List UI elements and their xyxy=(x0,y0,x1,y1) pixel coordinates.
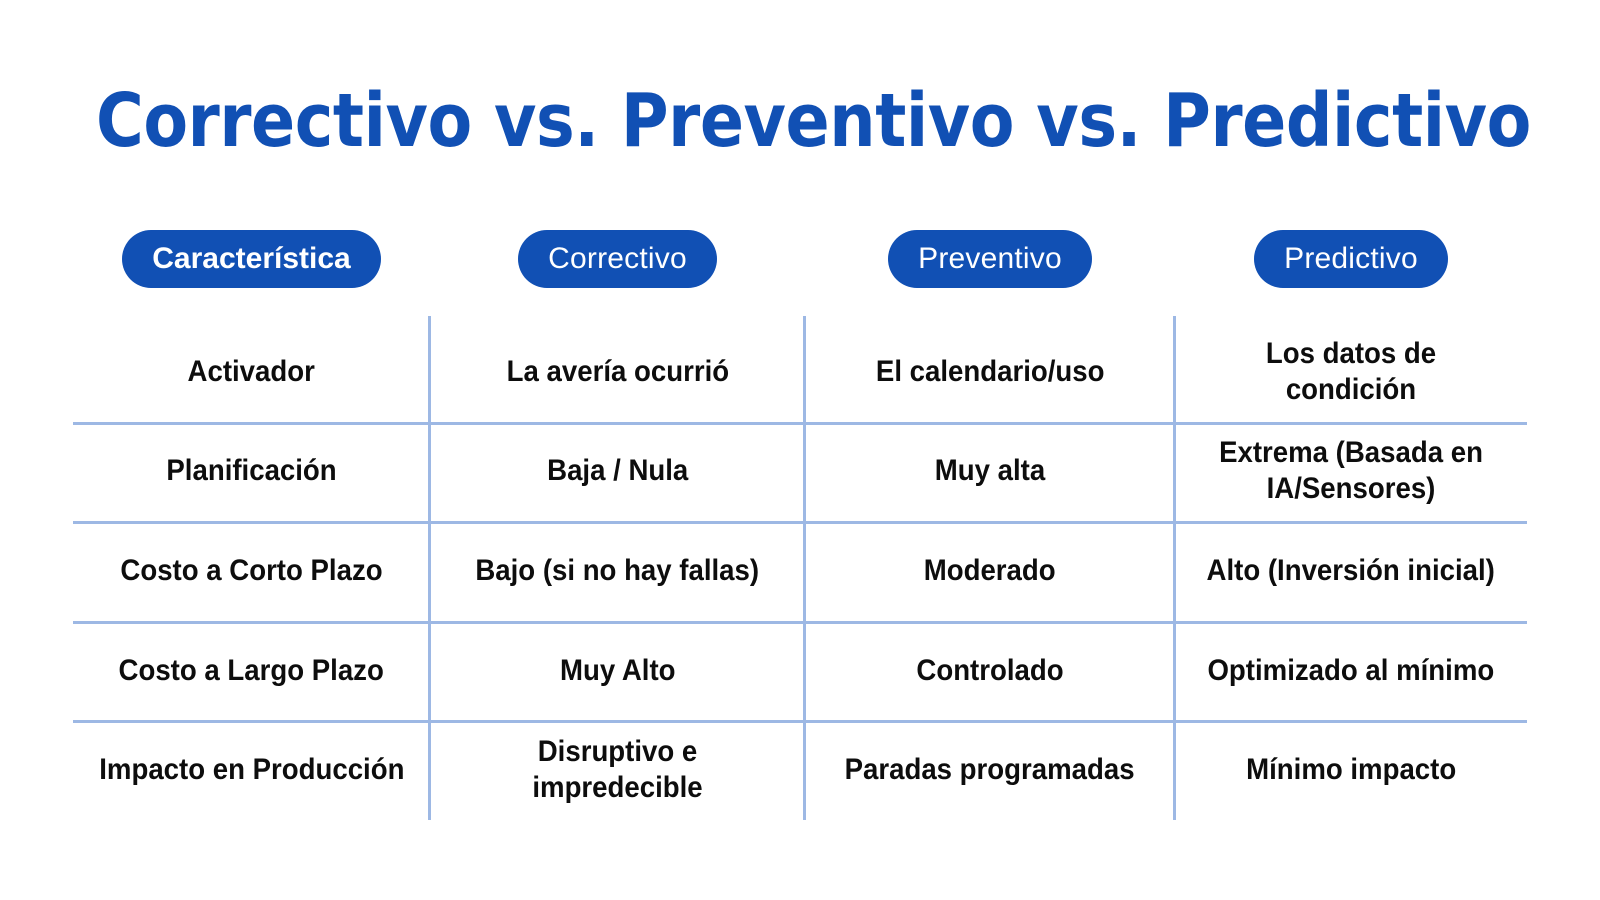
cell-text: Muy Alto xyxy=(560,653,676,689)
header-pill-preventivo[interactable]: Preventivo xyxy=(888,230,1092,288)
cell-correctivo: Baja / Nula xyxy=(430,422,805,522)
cell-text: Costo a Corto Plazo xyxy=(120,553,382,589)
cell-text: Muy alta xyxy=(935,453,1045,489)
comparison-table: Característica Correctivo Preventivo Pre… xyxy=(73,228,1527,820)
cell-text: La avería ocurrió xyxy=(506,354,728,390)
cell-feature: Costo a Largo Plazo xyxy=(73,621,430,721)
cell-text: Impacto en Producción xyxy=(99,752,404,788)
cell-predictivo: Los datos de condición xyxy=(1175,322,1527,422)
header-pill-correctivo[interactable]: Correctivo xyxy=(518,230,717,288)
cell-preventivo: Controlado xyxy=(805,621,1175,721)
table-row: Activador La avería ocurrió El calendari… xyxy=(73,322,1527,422)
table-row: Costo a Corto Plazo Bajo (si no hay fall… xyxy=(73,521,1527,621)
table-body: Activador La avería ocurrió El calendari… xyxy=(73,322,1527,820)
cell-text: Activador xyxy=(188,354,315,390)
cell-text: El calendario/uso xyxy=(876,354,1105,390)
cell-text: Baja / Nula xyxy=(547,453,688,489)
cell-text: Controlado xyxy=(916,653,1063,689)
cell-text: Bajo (si no hay fallas) xyxy=(476,553,760,589)
cell-correctivo: La avería ocurrió xyxy=(430,322,805,422)
cell-feature: Activador xyxy=(73,322,430,422)
cell-feature: Costo a Corto Plazo xyxy=(73,521,430,621)
header-cell-preventivo: Preventivo xyxy=(805,228,1175,290)
cell-preventivo: Muy alta xyxy=(805,422,1175,522)
cell-preventivo: Moderado xyxy=(805,521,1175,621)
cell-feature: Planificación xyxy=(73,422,430,522)
header-cell-caracteristica: Característica xyxy=(73,228,430,290)
cell-preventivo: Paradas programadas xyxy=(805,720,1175,820)
cell-predictivo: Mínimo impacto xyxy=(1175,720,1527,820)
cell-text: Moderado xyxy=(924,553,1056,589)
table-row: Costo a Largo Plazo Muy Alto Controlado … xyxy=(73,621,1527,721)
cell-text: Los datos de condición xyxy=(1200,336,1502,408)
cell-text: Extrema (Basada en IA/Sensores) xyxy=(1200,435,1502,507)
table-header-row: Característica Correctivo Preventivo Pre… xyxy=(73,228,1527,290)
header-pill-predictivo[interactable]: Predictivo xyxy=(1254,230,1448,288)
cell-text: Paradas programadas xyxy=(845,752,1135,788)
cell-predictivo: Alto (Inversión inicial) xyxy=(1175,521,1527,621)
header-pill-caracteristica[interactable]: Característica xyxy=(122,230,380,288)
table-row: Planificación Baja / Nula Muy alta Extre… xyxy=(73,422,1527,522)
cell-text: Mínimo impacto xyxy=(1246,752,1456,788)
cell-text: Costo a Largo Plazo xyxy=(119,653,384,689)
cell-predictivo: Optimizado al mínimo xyxy=(1175,621,1527,721)
cell-predictivo: Extrema (Basada en IA/Sensores) xyxy=(1175,422,1527,522)
header-cell-correctivo: Correctivo xyxy=(430,228,805,290)
cell-correctivo: Bajo (si no hay fallas) xyxy=(430,521,805,621)
cell-text: Disruptivo e impredecible xyxy=(456,734,779,806)
page-title: Correctivo vs. Preventivo vs. Predictivo xyxy=(96,78,1504,164)
cell-feature: Impacto en Producción xyxy=(73,720,430,820)
cell-correctivo: Disruptivo e impredecible xyxy=(430,720,805,820)
header-cell-predictivo: Predictivo xyxy=(1175,228,1527,290)
cell-text: Optimizado al mínimo xyxy=(1208,653,1495,689)
cell-text: Planificación xyxy=(166,453,336,489)
slide-root: Correctivo vs. Preventivo vs. Predictivo… xyxy=(0,0,1600,900)
table-row: Impacto en Producción Disruptivo e impre… xyxy=(73,720,1527,820)
cell-correctivo: Muy Alto xyxy=(430,621,805,721)
cell-text: Alto (Inversión inicial) xyxy=(1207,553,1495,589)
cell-preventivo: El calendario/uso xyxy=(805,322,1175,422)
